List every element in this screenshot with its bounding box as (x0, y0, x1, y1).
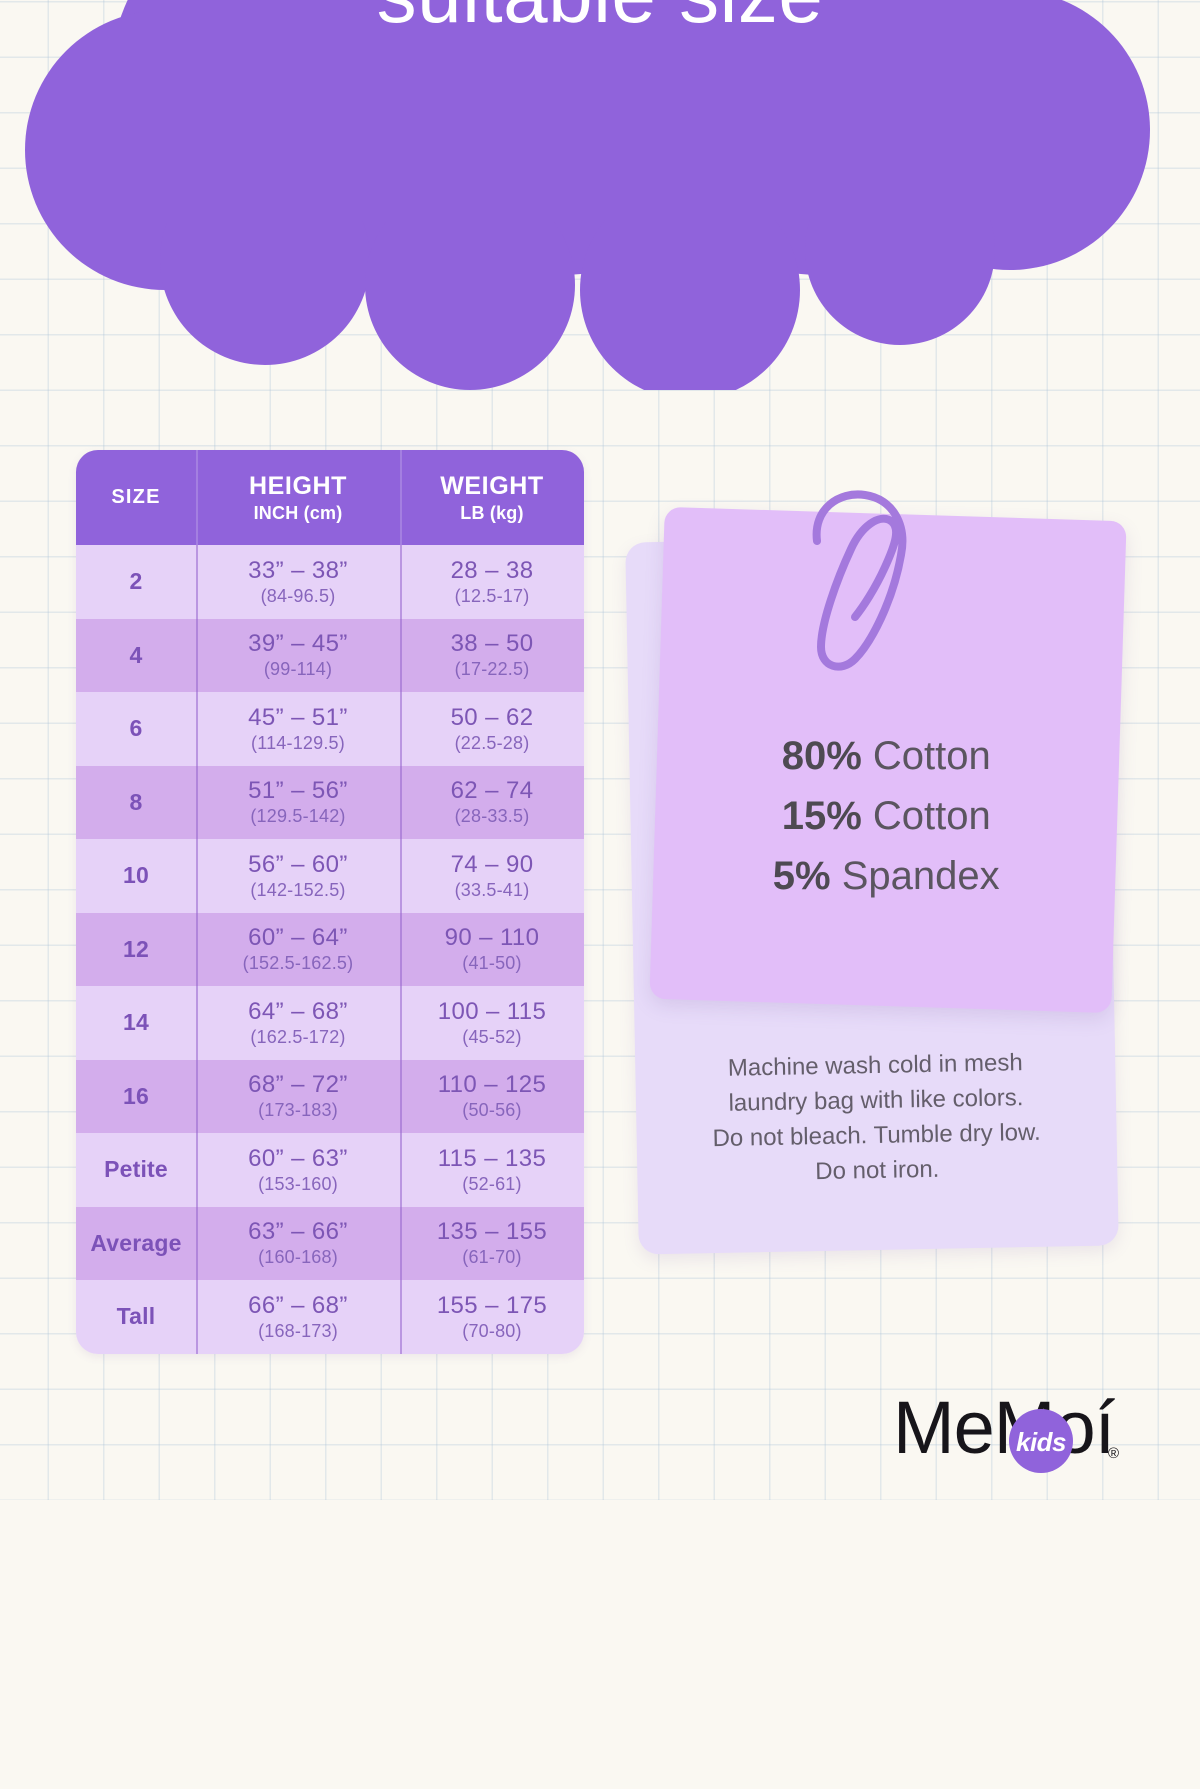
fabric-composition-list: 80% Cotton 15% Cotton 5% Spandex (655, 726, 1117, 906)
logo-kids-badge: kids (1009, 1409, 1073, 1473)
cell-weight: 62 – 74 (28-33.5) (400, 766, 584, 840)
cell-height: 60” – 63” (153-160) (196, 1133, 400, 1207)
fabric-percent: 5% (773, 854, 831, 898)
table-row: 10 56” – 60” (142-152.5) 74 – 90 (33.5-4… (76, 839, 584, 913)
cell-size: Tall (76, 1280, 196, 1354)
logo-wordmark: MeMoí (893, 1383, 1114, 1473)
page-title: Find your suitable size (0, 0, 1200, 39)
size-chart-table: SIZE HEIGHT INCH (cm) WEIGHT LB (kg) 2 3… (76, 450, 584, 1354)
table-row: 2 33” – 38” (84-96.5) 28 – 38 (12.5-17) (76, 545, 584, 619)
table-row: 16 68” – 72” (173-183) 110 – 125 (50-56) (76, 1060, 584, 1134)
cell-weight: 74 – 90 (33.5-41) (400, 839, 584, 913)
column-header-weight: WEIGHT LB (kg) (400, 450, 584, 545)
cell-size: 6 (76, 692, 196, 766)
cell-weight: 110 – 125 (50-56) (400, 1060, 584, 1134)
registered-trademark-symbol: ® (1108, 1445, 1119, 1462)
cell-height: 51” – 56” (129.5-142) (196, 766, 400, 840)
cell-height: 63” – 66” (160-168) (196, 1207, 400, 1281)
fabric-material: Cotton (873, 794, 991, 838)
table-row: 8 51” – 56” (129.5-142) 62 – 74 (28-33.5… (76, 766, 584, 840)
table-row: 12 60” – 64” (152.5-162.5) 90 – 110 (41-… (76, 913, 584, 987)
fabric-material: Cotton (873, 734, 991, 778)
logo-kids-badge-text: kids (1016, 1427, 1066, 1458)
fabric-item: 80% Cotton (655, 726, 1117, 786)
column-header-size-label: SIZE (111, 486, 160, 509)
column-header-weight-unit: LB (kg) (460, 503, 523, 524)
table-header-row: SIZE HEIGHT INCH (cm) WEIGHT LB (kg) (76, 450, 584, 545)
cell-size: Petite (76, 1133, 196, 1207)
cell-size: 10 (76, 839, 196, 913)
brand-logo: MeMoí kids ® (893, 1383, 1143, 1473)
cell-height: 60” – 64” (152.5-162.5) (196, 913, 400, 987)
column-header-height-label: HEIGHT (249, 472, 347, 501)
column-header-size: SIZE (76, 450, 196, 545)
table-row: Petite 60” – 63” (153-160) 115 – 135 (52… (76, 1133, 584, 1207)
cell-weight: 115 – 135 (52-61) (400, 1133, 584, 1207)
fabric-material: Spandex (842, 854, 1000, 898)
cell-size: 8 (76, 766, 196, 840)
cell-size: Average (76, 1207, 196, 1281)
table-row: Average 63” – 66” (160-168) 135 – 155 (6… (76, 1207, 584, 1281)
cell-weight: 135 – 155 (61-70) (400, 1207, 584, 1281)
cell-height: 39” – 45” (99-114) (196, 619, 400, 693)
cell-size: 12 (76, 913, 196, 987)
cell-height: 68” – 72” (173-183) (196, 1060, 400, 1134)
cloud-header-banner: Find your suitable size (0, 0, 1200, 390)
cell-height: 33” – 38” (84-96.5) (196, 545, 400, 619)
fabric-percent: 80% (782, 734, 862, 778)
cell-size: 16 (76, 1060, 196, 1134)
care-instructions-text: Machine wash cold in mesh laundry bag wi… (657, 1044, 1096, 1192)
cell-size: 14 (76, 986, 196, 1060)
cell-weight: 90 – 110 (41-50) (400, 913, 584, 987)
cell-height: 56” – 60” (142-152.5) (196, 839, 400, 913)
cell-weight: 28 – 38 (12.5-17) (400, 545, 584, 619)
table-row: 6 45” – 51” (114-129.5) 50 – 62 (22.5-28… (76, 692, 584, 766)
table-row: 14 64” – 68” (162.5-172) 100 – 115 (45-5… (76, 986, 584, 1060)
cell-weight: 50 – 62 (22.5-28) (400, 692, 584, 766)
cell-size: 2 (76, 545, 196, 619)
column-header-height: HEIGHT INCH (cm) (196, 450, 400, 545)
column-header-height-unit: INCH (cm) (254, 503, 343, 524)
table-row: Tall 66” – 68” (168-173) 155 – 175 (70-8… (76, 1280, 584, 1354)
cell-height: 64” – 68” (162.5-172) (196, 986, 400, 1060)
column-header-weight-label: WEIGHT (440, 472, 544, 501)
fabric-item: 15% Cotton (655, 786, 1117, 846)
paperclip-icon (795, 483, 945, 678)
cell-weight: 38 – 50 (17-22.5) (400, 619, 584, 693)
fabric-percent: 15% (782, 794, 862, 838)
cell-weight: 100 – 115 (45-52) (400, 986, 584, 1060)
table-row: 4 39” – 45” (99-114) 38 – 50 (17-22.5) (76, 619, 584, 693)
fabric-item: 5% Spandex (655, 846, 1117, 906)
cell-height: 66” – 68” (168-173) (196, 1280, 400, 1354)
cell-size: 4 (76, 619, 196, 693)
cell-height: 45” – 51” (114-129.5) (196, 692, 400, 766)
cell-weight: 155 – 175 (70-80) (400, 1280, 584, 1354)
